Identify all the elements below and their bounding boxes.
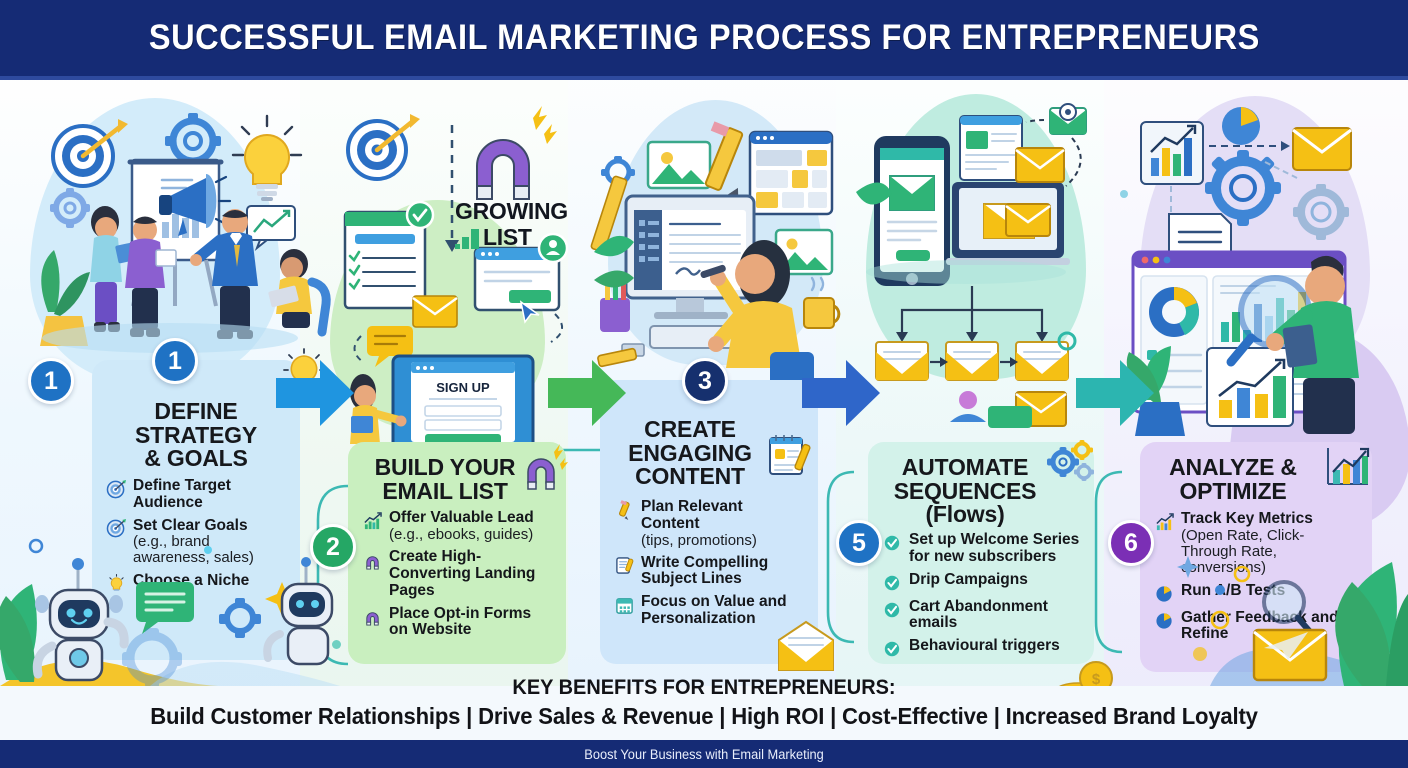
growth-chart-icon (1154, 512, 1174, 532)
robot-icon-second (267, 557, 332, 664)
decor-bottom-left (0, 510, 340, 686)
list-item-text: Create High-Converting Landing Pages (389, 549, 552, 599)
step-title-line: CREATE (614, 418, 766, 442)
calendar-icon (614, 595, 634, 615)
bullet-label: Drip Campaigns (909, 572, 1028, 589)
step-title-line: ENGAGING (614, 442, 766, 466)
pie-chart-icon (1154, 584, 1174, 604)
list-item: Offer Valuable Lead (e.g., ebooks, guide… (362, 510, 552, 543)
pencil-icon (614, 500, 634, 520)
magnet-icon-large (477, 104, 557, 199)
gear-icon-decor (219, 598, 261, 638)
pie-chart-icon-top (1222, 107, 1260, 145)
list-item-text: Define Target Audience (133, 478, 286, 511)
header-banner: SUCCESSFUL EMAIL MARKETING PROCESS FOR E… (0, 0, 1408, 76)
step-badge-3: 3 (682, 358, 728, 404)
device-shadow (866, 260, 1066, 284)
growth-chart-card (1207, 348, 1293, 426)
bullet-label: Write Compelling Subject Lines (641, 555, 804, 588)
bullet-label: Plan Relevant Content (641, 499, 804, 532)
magnet-icon (362, 607, 382, 627)
envelope-icon-small (413, 296, 457, 327)
dot-decor (204, 546, 212, 554)
step-title-line: DEFINE STRATEGY (106, 400, 286, 447)
step-panel-build-email-list: 2 BUILD YOUR EMAIL LIST (348, 442, 566, 664)
list-item-text: Cart Abandonment emails (909, 599, 1080, 632)
check-circle-icon (882, 639, 902, 659)
growing-list-line1: GROWING (455, 200, 568, 223)
step-title-5: ANALYZE & OPTIMIZE (1154, 456, 1358, 503)
step-badge-0-outer: 1 (28, 358, 74, 404)
bullet-label: Define Target Audience (133, 478, 286, 511)
signup-heading-text: SIGN UP (436, 380, 490, 395)
step-bullets-3: Plan Relevant Content (tips, promotions) (614, 499, 804, 628)
bullet-note: (tips, promotions) (641, 533, 804, 549)
list-item: Define Target Audience (106, 478, 286, 511)
chat-bubble-green (988, 406, 1032, 428)
envelope-icon-target (1050, 104, 1086, 134)
flow-arrowheads (896, 332, 1048, 342)
dot-decor-a (1193, 647, 1207, 661)
list-item: Place Opt-in Forms on Website (362, 606, 552, 639)
step-title-line: OPTIMIZE (1154, 480, 1312, 504)
envelope-send-icon (1254, 630, 1326, 680)
steps-canvas: SIGN UP GROWING (0, 80, 1408, 686)
magnifying-glass-icon (1264, 582, 1312, 634)
illustration-build-email-list: SIGN UP (325, 100, 575, 450)
browser-card (960, 116, 1022, 180)
flow-envelope-nurture (946, 342, 998, 380)
bullet-label: Behavioural triggers (909, 638, 1060, 655)
list-item-text: Set up Welcome Series for new subscriber… (909, 532, 1080, 565)
step-title-line: SEQUENCES (Flows) (882, 480, 1048, 527)
dot-decor-b (1215, 585, 1225, 595)
leaf-icon-left (0, 584, 37, 682)
arrow-step1-to-step2 (272, 358, 358, 428)
step-title-line: AUTOMATE (882, 456, 1048, 480)
ring-decor-b (1235, 567, 1249, 581)
footer-tagline: Boost Your Business with Email Marketing (584, 747, 824, 762)
list-item-text: Offer Valuable Lead (e.g., ebooks, guide… (389, 510, 534, 543)
step-badge-1: 1 (152, 338, 198, 384)
check-circle-icon (882, 600, 902, 620)
step-title-line: ANALYZE & (1154, 456, 1312, 480)
decor-bottom-right (1180, 520, 1408, 686)
coffee-mug-icon (804, 278, 839, 328)
list-item-text: Behavioural triggers (909, 638, 1060, 655)
person-avatar-dot (959, 391, 977, 409)
chart-bubble (247, 206, 295, 248)
illustration-create-content (592, 102, 842, 402)
step-panel-automate-sequences: 5 (868, 442, 1094, 664)
flow-envelope-third (1016, 333, 1075, 380)
page-title: SUCCESSFUL EMAIL MARKETING PROCESS FOR E… (148, 18, 1259, 58)
laptop-signup: SIGN UP (393, 356, 533, 448)
growing-list-line2: LIST (483, 226, 532, 249)
footer-bar: Boost Your Business with Email Marketing (0, 740, 1408, 768)
benefits-line: Build Customer Relationships | Drive Sal… (28, 703, 1380, 730)
step-title-4: AUTOMATE SEQUENCES (Flows) (882, 456, 1080, 527)
arrow-step2-to-step3 (544, 358, 630, 428)
lightbulb-icon (233, 116, 301, 199)
growing-list-label: GROWING LIST (455, 200, 568, 249)
arrow-step4-to-step5 (1072, 358, 1158, 428)
list-item-text: Write Compelling Subject Lines (641, 555, 804, 588)
envelope-icon-yellow-mid (1006, 204, 1050, 236)
envelope-icon-open-decor (775, 620, 837, 674)
ring-decor (30, 540, 42, 552)
step-title-2: BUILD YOUR EMAIL LIST (362, 456, 552, 503)
gear-icon-left (50, 188, 90, 228)
list-item: Drip Campaigns (882, 572, 1080, 593)
step-badge-4: 5 (836, 520, 882, 566)
list-item: Cart Abandonment emails (882, 599, 1080, 632)
step-title-3: CREATE ENGAGING CONTENT (614, 418, 804, 489)
bullet-label: Place Opt-in Forms on Website (389, 606, 552, 639)
leaf-icon-right (1335, 562, 1408, 686)
bullet-label: Set up Welcome Series for new subscriber… (909, 532, 1080, 565)
growth-chart-icon (362, 511, 382, 531)
step-bullets-2: Offer Valuable Lead (e.g., ebooks, guide… (362, 510, 552, 639)
step-badge-5: 6 (1108, 520, 1154, 566)
bullet-note: (e.g., ebooks, guides) (389, 527, 534, 543)
pie-chart-icon (1154, 611, 1174, 631)
list-item-text: Plan Relevant Content (tips, promotions) (641, 499, 804, 549)
check-circle-icon (882, 573, 902, 593)
infographic-canvas: SUCCESSFUL EMAIL MARKETING PROCESS FOR E… (0, 0, 1408, 768)
key-benefits-block: KEY BENEFITS FOR ENTREPRENEURS: Build Cu… (0, 676, 1408, 742)
sparkle-icon (1177, 556, 1199, 578)
step-title-line: CONTENT (614, 465, 766, 489)
list-item: Write Compelling Subject Lines (614, 555, 804, 588)
magnet-icon (362, 550, 382, 570)
check-circle-icon (882, 533, 902, 553)
dashed-curve-right (551, 314, 562, 342)
robot-icon-main (35, 558, 124, 680)
list-item-text: Drip Campaigns (909, 572, 1028, 589)
list-item: Create High-Converting Landing Pages (362, 549, 552, 599)
chat-bubble-green (136, 582, 194, 634)
illustration-analyze-optimize (1125, 100, 1395, 440)
ring-decor-a (1212, 612, 1228, 628)
dashed-arrow-2 (1066, 138, 1081, 186)
bullet-label: Cart Abandonment emails (909, 599, 1080, 632)
gear-icon-small (1293, 184, 1349, 240)
step-title-line: BUILD YOUR (362, 456, 528, 480)
envelope-icon-yellow-top (1016, 148, 1064, 182)
illustration-automate-sequences (856, 100, 1106, 430)
checklist-icon (345, 202, 433, 308)
benefits-heading: KEY BENEFITS FOR ENTREPRENEURS: (35, 676, 1373, 700)
mini-bars-icon (455, 229, 479, 249)
step-title-1: DEFINE STRATEGY & GOALS (106, 400, 286, 471)
mini-bar-chart-card (1141, 122, 1203, 184)
arrow-step3-to-step4 (798, 358, 884, 428)
flow-connectors (902, 286, 1042, 332)
layout-window-icon (750, 132, 832, 214)
bullet-label: Create High-Converting Landing Pages (389, 549, 552, 599)
note-pencil-icon (614, 556, 634, 576)
target-icon (348, 114, 420, 179)
envelope-icon-yellow (1293, 128, 1351, 170)
image-card-icon (648, 142, 710, 188)
step-title-line: EMAIL LIST (362, 480, 528, 504)
step-title-line: & GOALS (106, 447, 286, 471)
target-icon (53, 119, 128, 186)
person-avatar-body (950, 414, 986, 422)
header-divider (0, 76, 1408, 80)
list-item-text: Place Opt-in Forms on Website (389, 606, 552, 639)
list-item: Plan Relevant Content (tips, promotions) (614, 499, 804, 549)
list-item: Behavioural triggers (882, 638, 1080, 659)
dashed-arrow-1 (1026, 120, 1044, 122)
list-item: Set up Welcome Series for new subscriber… (882, 532, 1080, 565)
target-icon (106, 479, 126, 499)
step-bullets-4: Set up Welcome Series for new subscriber… (882, 532, 1080, 659)
bullet-label: Offer Valuable Lead (389, 510, 534, 527)
